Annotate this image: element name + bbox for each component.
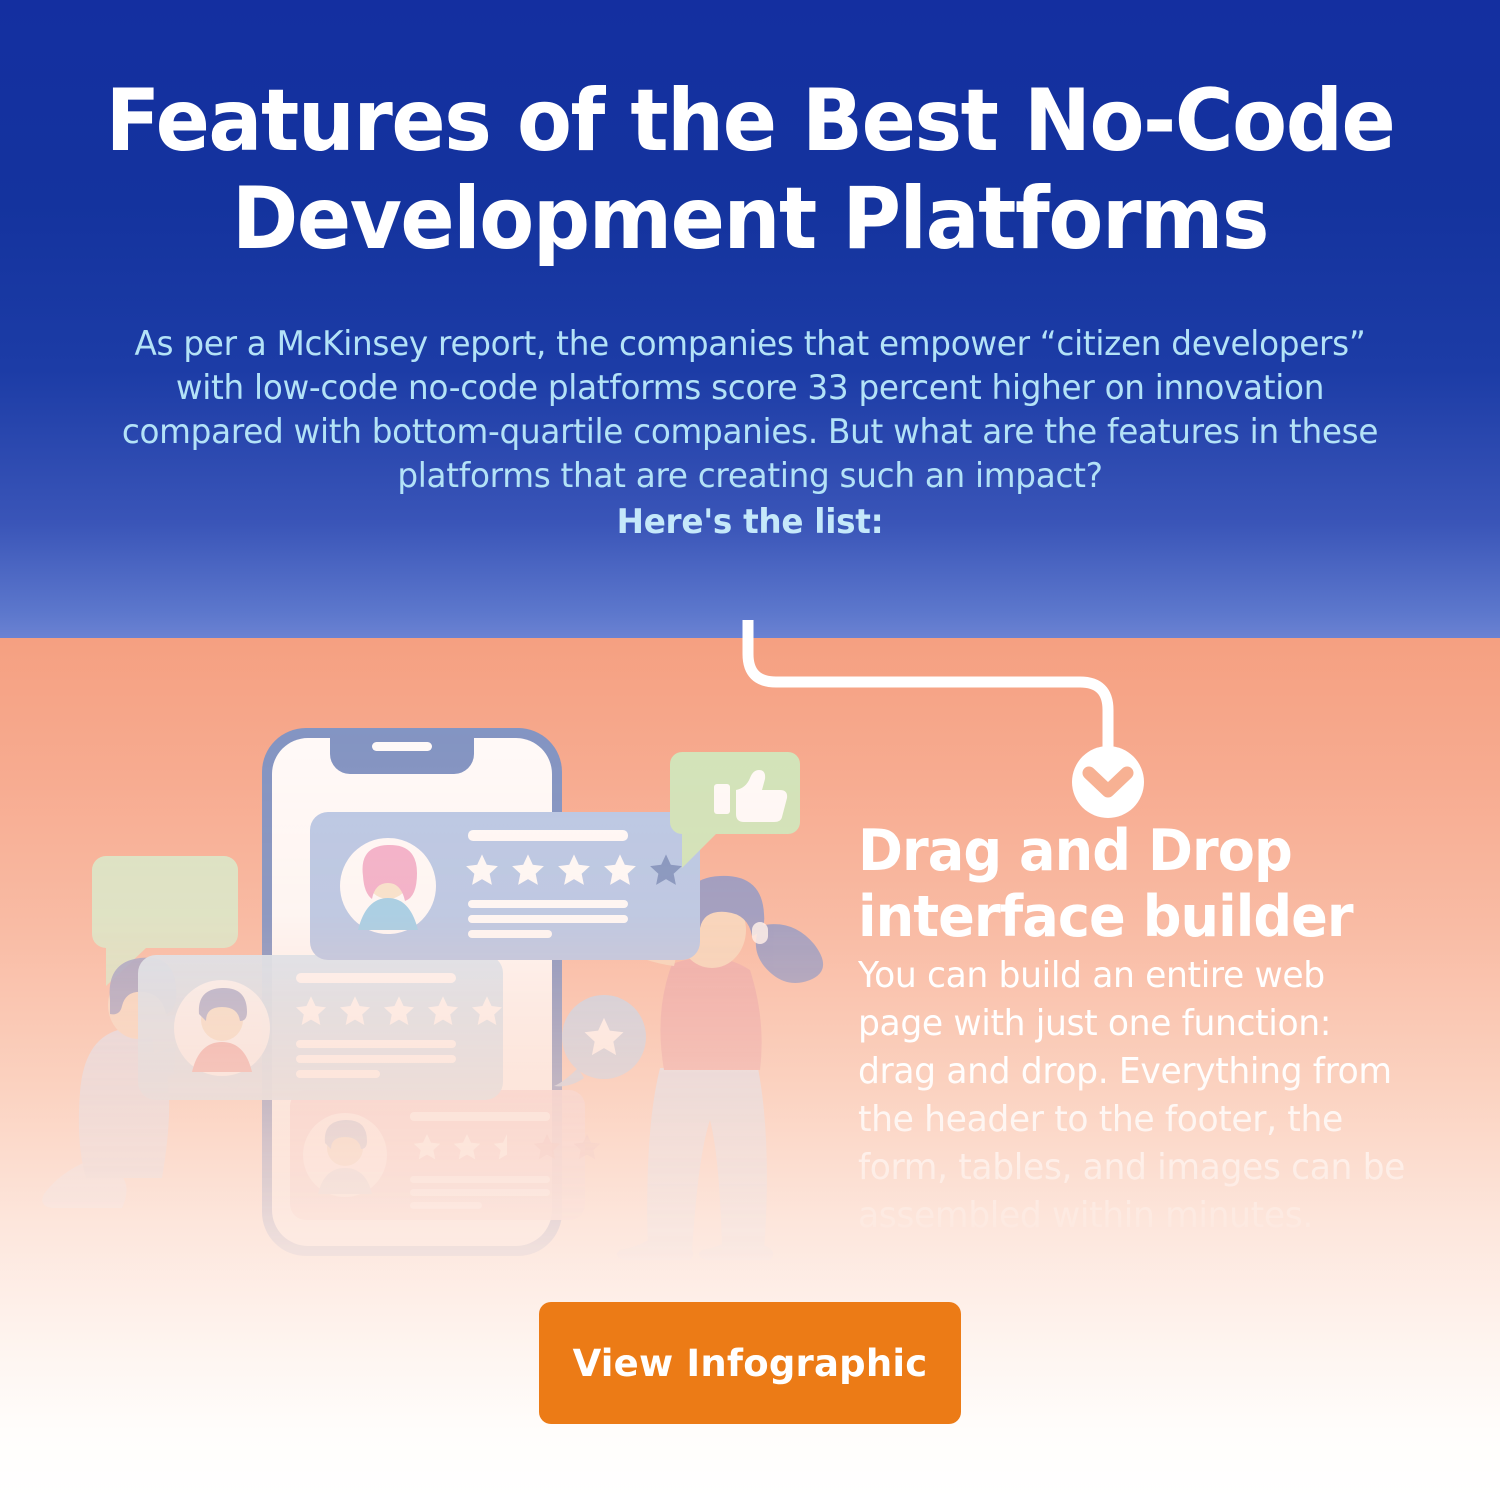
feature-description: You can build an entire web page with ju… [858, 952, 1415, 1240]
infographic-banner: Features of the Best No-Code Development… [0, 0, 1500, 1500]
connector-line [690, 620, 1210, 850]
page-title-line-2: Development Platforms [232, 169, 1268, 269]
speech-bubble-star [554, 995, 646, 1086]
intro-closing-text: Here's the list: [116, 500, 1383, 544]
review-card-bottom [290, 1090, 600, 1220]
review-card-top [310, 812, 700, 960]
intro-body-text: As per a McKinsey report, the companies … [116, 322, 1383, 498]
page-title-line-1: Features of the Best No-Code [106, 71, 1395, 171]
intro-paragraph: As per a McKinsey report, the companies … [116, 322, 1383, 544]
page-title: Features of the Best No-Code Development… [53, 72, 1448, 268]
feature-block: Drag and Drop interface builder You can … [858, 818, 1438, 1240]
feature-marker-circle [1072, 746, 1144, 818]
review-card-middle [138, 955, 503, 1100]
view-infographic-button[interactable]: View Infographic [539, 1302, 961, 1424]
feature-heading: Drag and Drop interface builder [858, 818, 1409, 950]
